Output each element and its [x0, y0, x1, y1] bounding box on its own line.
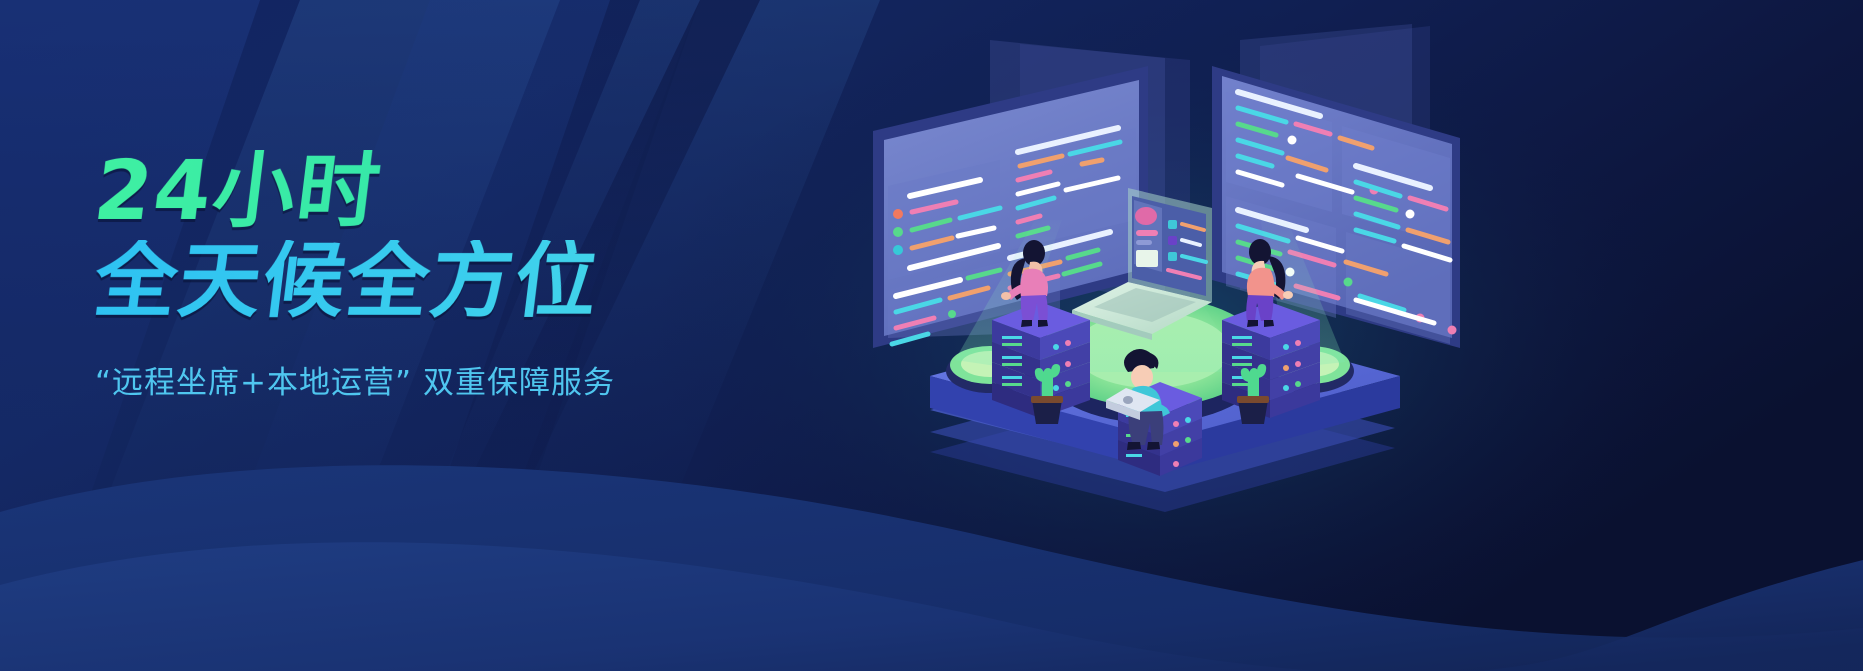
- laptop-avatar-line2: [1136, 240, 1152, 245]
- laptop-avatar: [1135, 207, 1157, 225]
- laptop-avatar-card: [1136, 250, 1158, 267]
- laptop-avatar-line1: [1136, 230, 1158, 236]
- copy-block: 24小时 全天候全方位 “远程坐席+本地运营” 双重保障服务: [95, 150, 855, 402]
- subheadline: “远程坐席+本地运营” 双重保障服务: [95, 357, 855, 402]
- seated-laptop-logo: [1123, 396, 1133, 404]
- headline-line-2: 全天候全方位: [90, 240, 860, 324]
- headline-line-1: 24小时: [90, 150, 860, 234]
- hero-banner: 24小时 全天候全方位 “远程坐席+本地运营” 双重保障服务: [0, 0, 1863, 671]
